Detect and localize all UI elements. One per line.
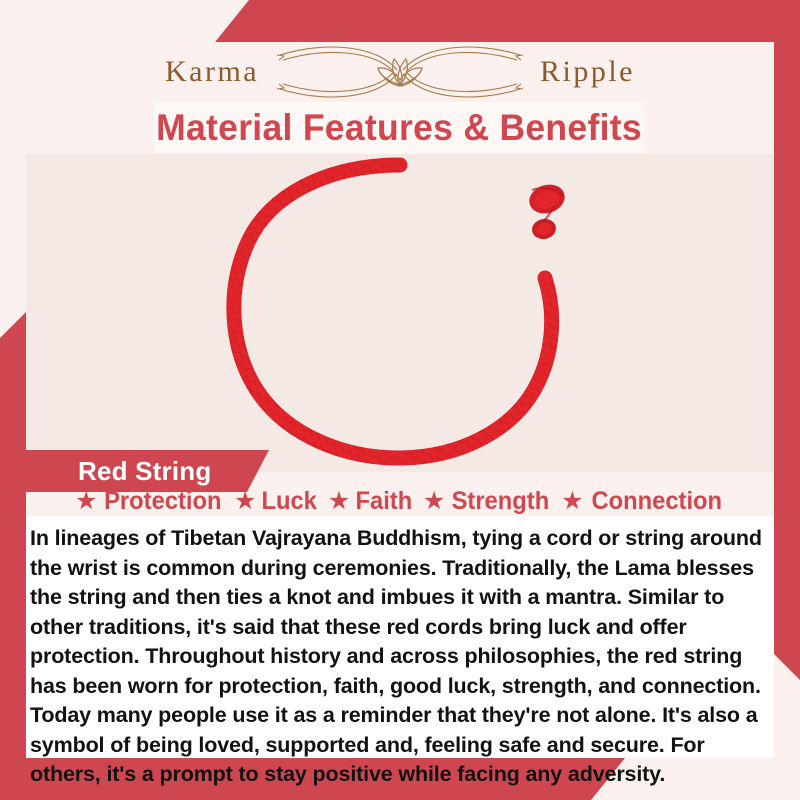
benefit-item-luck: ★ Luck	[234, 487, 319, 516]
bracelet-knot	[526, 180, 569, 241]
brand-logo-svg: Karma Ripple	[165, 43, 635, 101]
headline-banner: Material Features & Benefits	[154, 102, 644, 154]
benefit-item-protection: ★ Protection	[75, 487, 225, 516]
poster-canvas: Karma Ripple Material Features & Benefit…	[0, 0, 800, 800]
star-icon: ★	[328, 489, 350, 514]
red-string-bracelet-image	[26, 154, 774, 472]
product-image-panel	[26, 154, 774, 472]
benefit-label: Faith	[356, 487, 413, 516]
star-icon: ★	[234, 489, 256, 514]
frame-band-left	[0, 312, 26, 800]
benefit-label: Connection	[591, 487, 722, 516]
brand-logo: Karma Ripple	[26, 42, 774, 102]
benefit-item-connection: ★ Connection	[561, 487, 725, 516]
benefit-label: Luck	[262, 487, 317, 516]
brand-name-right: Ripple	[540, 55, 635, 88]
description-panel: In lineages of Tibetan Vajrayana Buddhis…	[26, 516, 774, 758]
benefit-label: Protection	[104, 487, 221, 516]
page-title: Material Features & Benefits	[156, 107, 642, 149]
benefit-item-strength: ★ Strength	[423, 487, 552, 516]
benefit-item-faith: ★ Faith	[328, 487, 414, 516]
content-stage: Karma Ripple Material Features & Benefit…	[26, 42, 774, 758]
brand-name-left: Karma	[165, 55, 259, 88]
benefits-list: ★ Protection ★ Luck ★ Faith ★ Strength ★…	[26, 462, 774, 520]
frame-band-top	[215, 0, 800, 42]
star-icon: ★	[75, 489, 97, 514]
lotus-icon	[378, 59, 422, 86]
benefit-label: Strength	[452, 487, 550, 516]
star-icon: ★	[561, 489, 583, 514]
frame-band-right	[774, 0, 800, 680]
description-text: In lineages of Tibetan Vajrayana Buddhis…	[30, 524, 762, 790]
star-icon: ★	[423, 489, 445, 514]
